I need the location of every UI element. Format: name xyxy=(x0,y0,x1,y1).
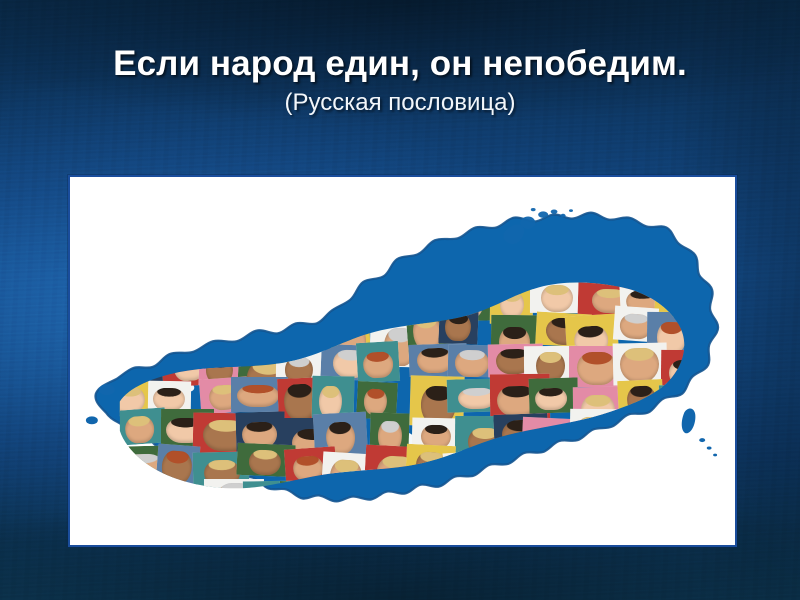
photo-card xyxy=(117,408,167,447)
face-photo xyxy=(124,416,155,444)
page-title: Если народ един, он непобедим. xyxy=(0,44,800,83)
face-photo xyxy=(577,352,617,385)
russia-map-image xyxy=(70,177,735,545)
face-photo xyxy=(249,450,282,476)
mosaic-tile xyxy=(117,408,167,447)
face-photo xyxy=(535,388,567,411)
slide-canvas: Если народ един, он непобедим. (Русская … xyxy=(0,0,800,600)
slide-subtitle: (Русская пословица) xyxy=(0,89,800,118)
picture-panel[interactable] xyxy=(68,175,737,547)
photo-card xyxy=(356,341,400,383)
face-photo xyxy=(540,285,572,312)
face-photo xyxy=(363,387,388,415)
title-block: Если народ един, он непобедим. (Русская … xyxy=(0,44,800,118)
face-photo xyxy=(619,347,659,382)
mosaic-tile xyxy=(448,345,493,378)
face-photo xyxy=(363,352,394,379)
face-photo xyxy=(237,385,278,407)
photo-card xyxy=(448,345,493,378)
face-photo xyxy=(455,350,489,377)
mosaic-tile xyxy=(356,341,400,383)
